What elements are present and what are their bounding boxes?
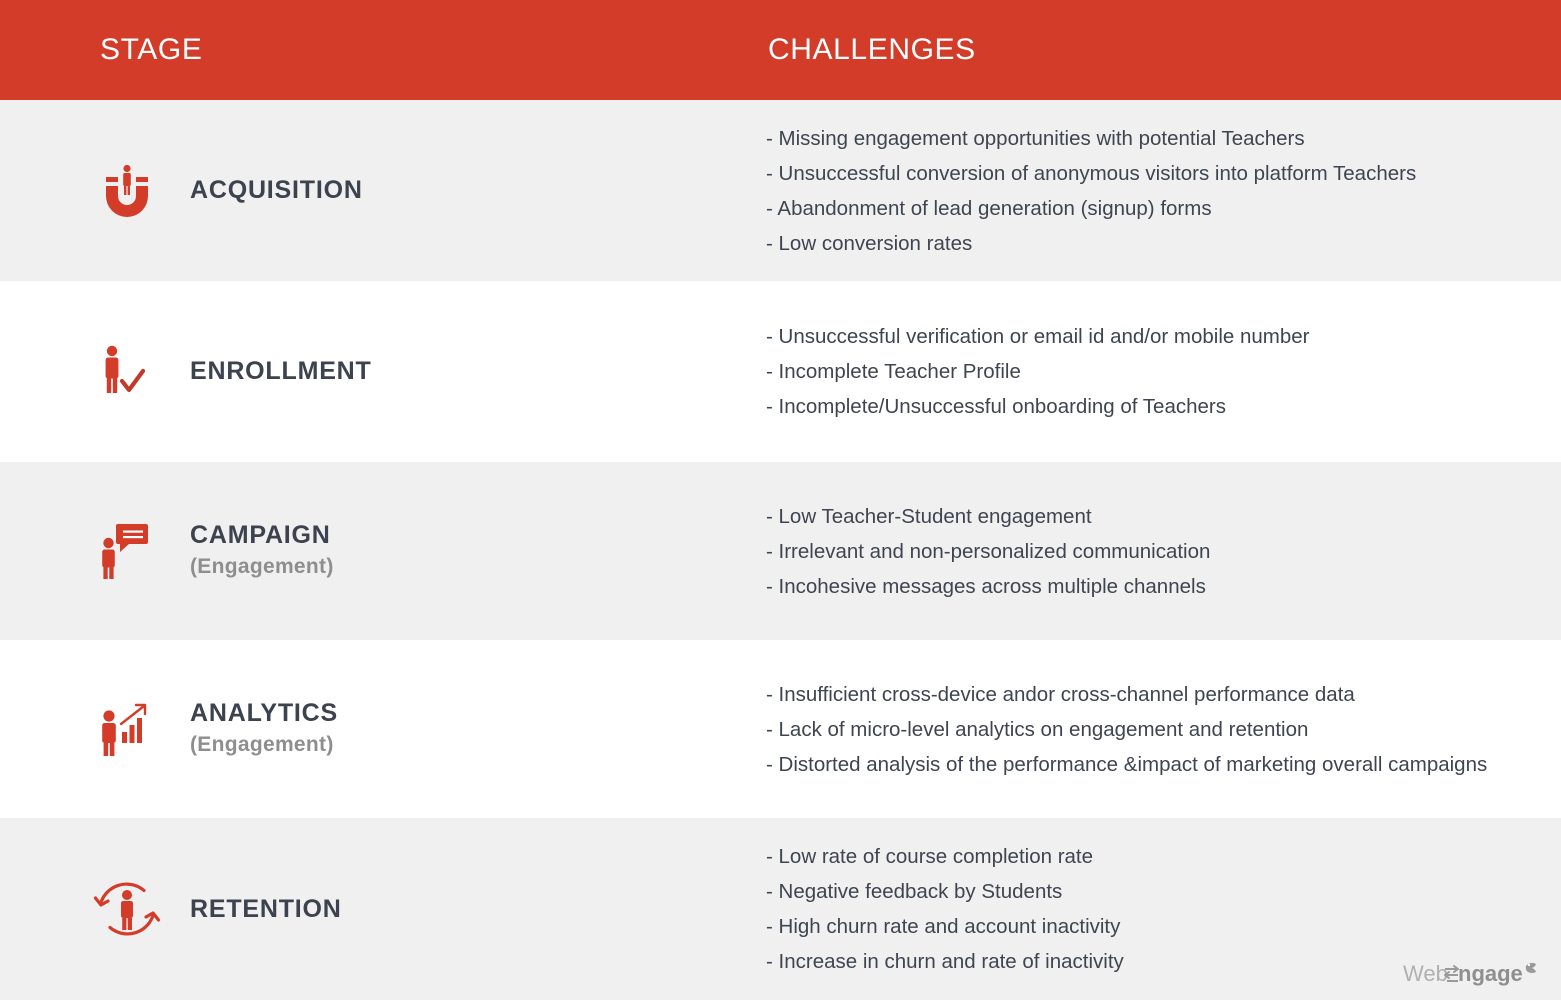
challenge-line: - Incohesive messages across multiple ch…: [766, 569, 1551, 604]
stage-labels: ANALYTICS (Engagement): [190, 699, 338, 758]
stage-challenges-table: STAGE CHALLENGES: [0, 0, 1561, 1000]
challenge-line: - Low conversion rates: [766, 226, 1551, 261]
stage-sub: (Engagement): [190, 731, 338, 758]
header-challenges-label: CHALLENGES: [768, 35, 1561, 65]
challenge-line: - Low Teacher-Student engagement: [766, 499, 1551, 534]
challenge-line: - Lack of micro-level analytics on engag…: [766, 712, 1551, 747]
stage-name: RETENTION: [190, 895, 342, 924]
logo-bird-icon: [1526, 963, 1536, 973]
header-stage-label: STAGE: [100, 35, 740, 65]
stage-labels: ENROLLMENT: [190, 357, 372, 386]
table-row: CAMPAIGN (Engagement) - Low Teacher-Stud…: [0, 462, 1561, 640]
person-bar-chart-icon: [90, 698, 164, 760]
stage-labels: ACQUISITION: [190, 176, 363, 205]
person-check-icon: [90, 341, 164, 403]
stage-sub: (Engagement): [190, 553, 334, 580]
challenge-line: - Negative feedback by Students: [766, 874, 1551, 909]
logo-text-web: Web: [1403, 961, 1448, 986]
table-row: ENROLLMENT - Unsuccessful verification o…: [0, 281, 1561, 462]
challenge-line: - Insufficient cross-device andor cross-…: [766, 677, 1551, 712]
table-row: ACQUISITION - Missing engagement opportu…: [0, 100, 1561, 281]
stage-name: ENROLLMENT: [190, 357, 372, 386]
stage-labels: CAMPAIGN (Engagement): [190, 521, 334, 580]
stage-cell-acquisition: ACQUISITION: [0, 100, 740, 281]
challenge-line: - Unsuccessful conversion of anonymous v…: [766, 156, 1551, 191]
challenge-line: - Low rate of course completion rate: [766, 839, 1551, 874]
challenge-line: - High churn rate and account inactivity: [766, 909, 1551, 944]
challenges-cell-enrollment: - Unsuccessful verification or email id …: [740, 281, 1561, 462]
stage-cell-analytics: ANALYTICS (Engagement): [0, 640, 740, 818]
stage-name: ANALYTICS: [190, 699, 338, 728]
challenge-line: - Unsuccessful verification or email id …: [766, 319, 1551, 354]
challenge-line: - Abandonment of lead generation (signup…: [766, 191, 1551, 226]
header-cell-challenges: CHALLENGES: [740, 35, 1561, 65]
stage-labels: RETENTION: [190, 895, 342, 924]
table-row: RETENTION - Low rate of course completio…: [0, 818, 1561, 1000]
stage-cell-retention: RETENTION: [0, 818, 740, 1000]
challenges-cell-analytics: - Insufficient cross-device andor cross-…: [740, 640, 1561, 818]
header-cell-stage: STAGE: [0, 35, 740, 65]
challenges-cell-acquisition: - Missing engagement opportunities with …: [740, 100, 1561, 281]
logo-text-ngage: ngage: [1458, 961, 1523, 986]
challenge-line: - Incomplete/Unsuccessful onboarding of …: [766, 389, 1551, 424]
stage-cell-enrollment: ENROLLMENT: [0, 281, 740, 462]
stage-name: CAMPAIGN: [190, 521, 334, 550]
table-header-row: STAGE CHALLENGES: [0, 0, 1561, 100]
challenge-line: - Irrelevant and non-personalized commun…: [766, 534, 1551, 569]
stage-name: ACQUISITION: [190, 176, 363, 205]
person-speech-bubble-icon: [90, 520, 164, 582]
challenges-cell-campaign: - Low Teacher-Student engagement - Irrel…: [740, 462, 1561, 640]
person-refresh-cycle-icon: [90, 874, 164, 944]
challenge-line: - Missing engagement opportunities with …: [766, 121, 1551, 156]
challenge-line: - Distorted analysis of the performance …: [766, 747, 1551, 782]
table-row: ANALYTICS (Engagement) - Insufficient cr…: [0, 640, 1561, 818]
stage-cell-campaign: CAMPAIGN (Engagement): [0, 462, 740, 640]
magnet-person-icon: [90, 160, 164, 222]
webengage-logo: Web ngage: [1403, 956, 1543, 990]
challenge-line: - Incomplete Teacher Profile: [766, 354, 1551, 389]
